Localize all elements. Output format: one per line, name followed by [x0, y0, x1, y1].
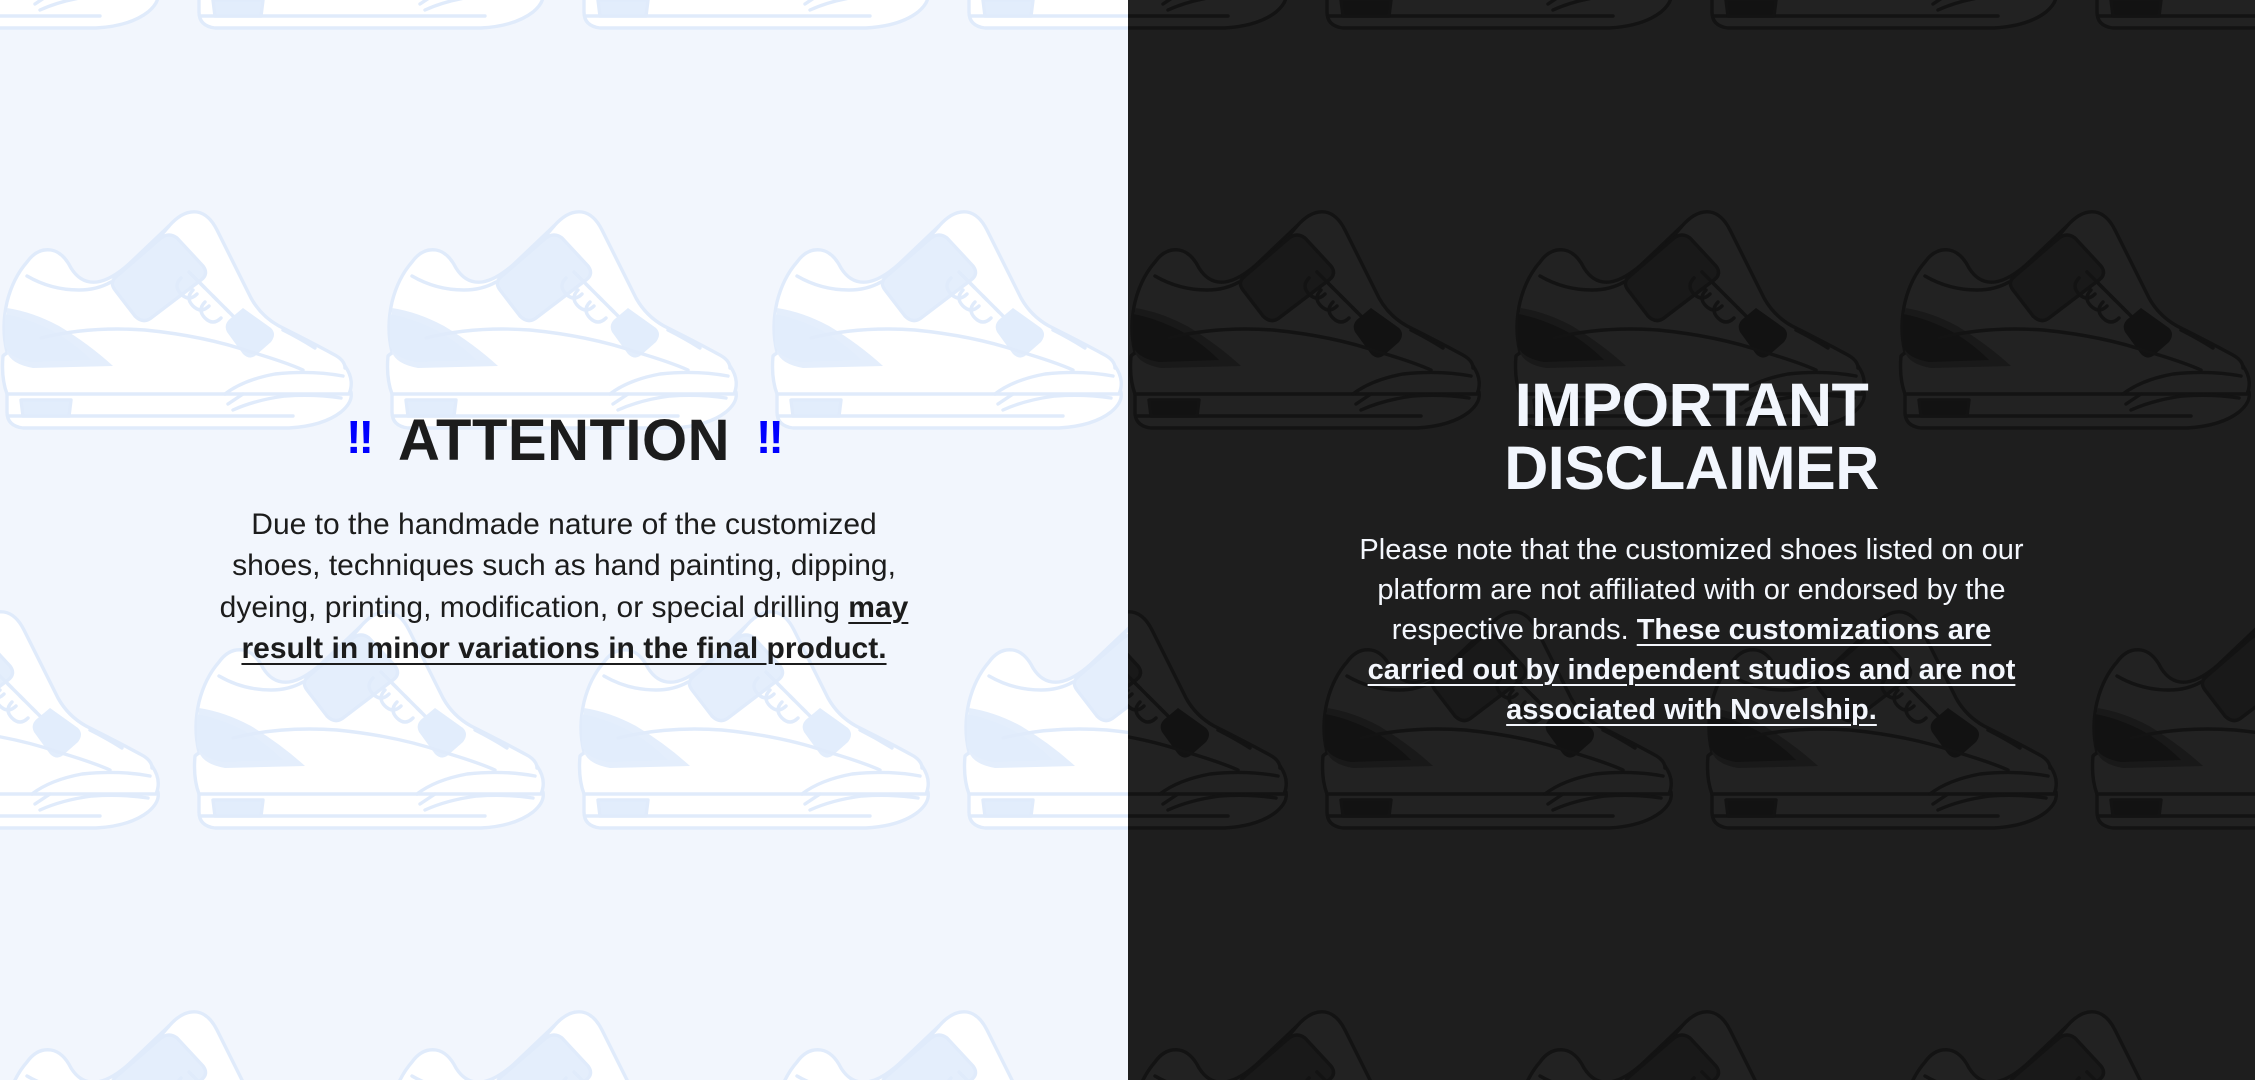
- sneaker-icon: [2083, 0, 2255, 70]
- disclaimer-heading: IMPORTANT DISCLAIMER: [1342, 374, 2042, 500]
- double-exclamation-icon-right: ‼: [756, 414, 782, 460]
- attention-heading-title: ATTENTION: [398, 411, 730, 470]
- sneaker-icon: [1891, 980, 2255, 1080]
- disclaimer-content: IMPORTANT DISCLAIMER Please note that th…: [1342, 374, 2042, 730]
- disclaimer-panel: IMPORTANT DISCLAIMER Please note that th…: [1128, 0, 2255, 1080]
- sneaker-icon: [1128, 580, 1313, 870]
- sneaker-pattern-row: [0, 980, 1128, 1080]
- sneaker-icon: [1506, 980, 1891, 1080]
- sneaker-icon: [1698, 0, 2083, 70]
- disclaimer-body: Please note that the customized shoes li…: [1342, 530, 2042, 730]
- attention-content: ‼ ATTENTION ‼ Due to the handmade nature…: [219, 411, 909, 670]
- disclaimer-heading-line1: IMPORTANT: [1342, 374, 2042, 437]
- sneaker-icon: [570, 0, 955, 70]
- sneaker-icon: [378, 980, 763, 1080]
- sneaker-icon: [1128, 980, 1506, 1080]
- attention-body: Due to the handmade nature of the custom…: [219, 504, 909, 670]
- sneaker-icon: [2083, 580, 2255, 870]
- attention-panel: ‼ ATTENTION ‼ Due to the handmade nature…: [0, 0, 1128, 1080]
- sneaker-icon: [0, 0, 185, 70]
- attention-heading: ‼ ATTENTION ‼: [219, 411, 909, 470]
- double-exclamation-icon-left: ‼: [346, 414, 372, 460]
- sneaker-pattern-row: [1128, 980, 2255, 1080]
- sneaker-icon: [955, 580, 1128, 870]
- sneaker-icon: [0, 980, 378, 1080]
- sneaker-pattern-row: [0, 0, 1128, 180]
- sneaker-icon: [0, 580, 185, 870]
- sneaker-icon: [185, 0, 570, 70]
- attention-body-normal: Due to the handmade nature of the custom…: [220, 508, 896, 624]
- sneaker-icon: [1128, 0, 1313, 70]
- sneaker-icon: [955, 0, 1128, 70]
- sneaker-icon: [1313, 0, 1698, 70]
- disclaimer-heading-line2: DISCLAIMER: [1342, 437, 2042, 500]
- sneaker-icon: [763, 980, 1128, 1080]
- sneaker-pattern-row: [1128, 0, 2255, 180]
